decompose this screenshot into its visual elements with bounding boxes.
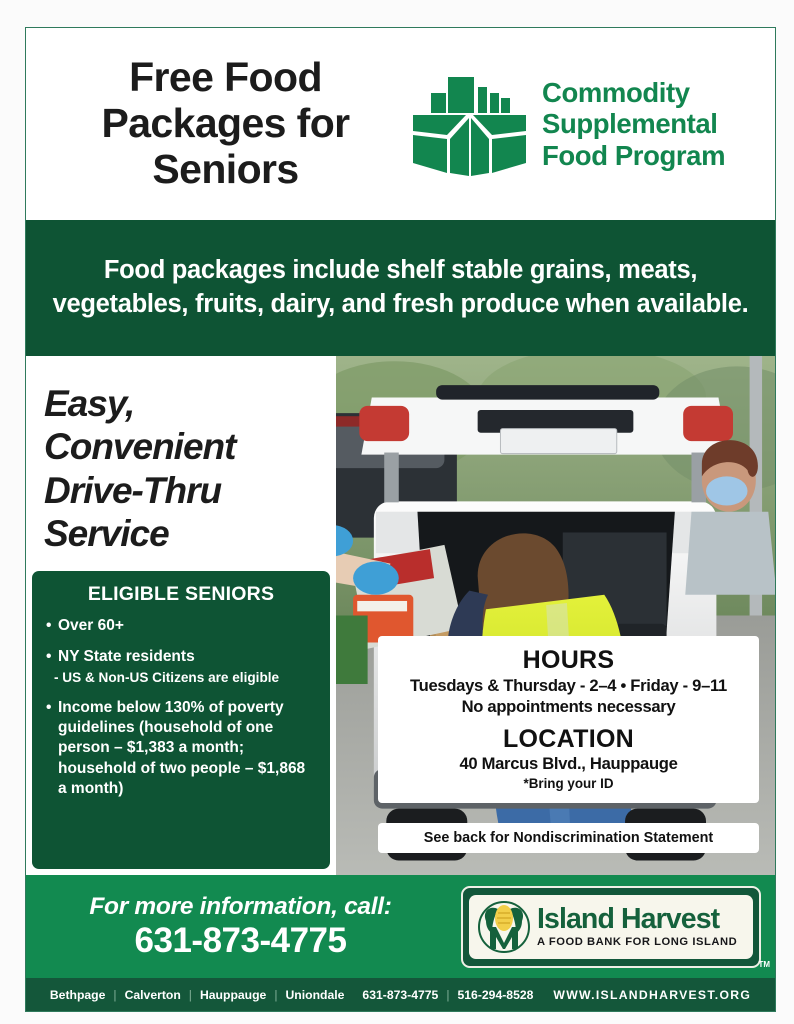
drive-thru-tagline: Easy, Convenient Drive-Thru Service: [32, 356, 330, 563]
csfp-program-name: Commodity Supplemental Food Program: [542, 77, 725, 171]
bring-id-note: *Bring your ID: [388, 776, 749, 791]
eligibility-text: Over 60+: [58, 616, 124, 636]
location-heading: LOCATION: [388, 725, 749, 754]
csfp-line-3: Food Program: [542, 140, 725, 171]
description-text: Food packages include shelf stable grain…: [48, 254, 753, 321]
footer-location-hauppauge: Hauppauge: [200, 988, 266, 1002]
list-item: • NY State residents - US & Non-US Citiz…: [46, 647, 316, 687]
csfp-line-1: Commodity: [542, 77, 725, 108]
eligibility-subtext: - US & Non-US Citizens are eligible: [46, 669, 316, 687]
footer-location-calverton: Calverton: [125, 988, 181, 1002]
csfp-logo: Commodity Supplemental Food Program: [403, 69, 765, 179]
eligible-seniors-box: ELIGIBLE SENIORS • Over 60+ • NY State r…: [32, 571, 330, 869]
footer-separator: |: [113, 988, 116, 1002]
flyer-frame: Free Food Packages for Seniors: [25, 27, 776, 1012]
hours-heading: HOURS: [388, 646, 749, 675]
footer-separator: |: [446, 988, 449, 1002]
trademark-mark: TM: [758, 960, 770, 969]
footer-phone-1[interactable]: 631-873-4775: [362, 988, 438, 1002]
address-text: 40 Marcus Blvd., Hauppauge: [388, 753, 749, 775]
header-section: Free Food Packages for Seniors: [26, 28, 775, 220]
bullet-icon: •: [46, 616, 58, 636]
eligibility-text: NY State residents: [58, 647, 195, 667]
page-title: Free Food Packages for Seniors: [48, 55, 403, 193]
phone-number[interactable]: 631-873-4775: [32, 921, 449, 960]
drive-thru-photo: HOURS Tuesdays & Thursday - 2–4 • Friday…: [336, 356, 775, 875]
footer-separator: |: [189, 988, 192, 1002]
flyer-page: Free Food Packages for Seniors: [0, 0, 794, 1024]
footer-phone-2[interactable]: 516-294-8528: [458, 988, 534, 1002]
hours-line: Tuesdays & Thursday - 2–4 • Friday - 9–1…: [388, 675, 749, 697]
bullet-icon: •: [46, 647, 58, 667]
footer-bar: Bethpage | Calverton | Hauppauge | Union…: [26, 978, 775, 1011]
call-block: For more information, call: 631-873-4775: [32, 893, 453, 960]
left-column: Easy, Convenient Drive-Thru Service ELIG…: [26, 356, 336, 875]
description-banner: Food packages include shelf stable grain…: [26, 220, 775, 356]
eligibility-text: Income below 130% of poverty guidelines …: [58, 698, 316, 799]
footer-location-bethpage: Bethpage: [50, 988, 106, 1002]
csfp-line-2: Supplemental: [542, 108, 725, 139]
island-harvest-logo: Island Harvest A FOOD BANK FOR LONG ISLA…: [461, 886, 761, 968]
footer-website[interactable]: WWW.ISLANDHARVEST.ORG: [553, 988, 751, 1002]
no-appointments-text: No appointments necessary: [388, 696, 749, 718]
list-item: • Over 60+: [46, 616, 316, 636]
hours-location-card: HOURS Tuesdays & Thursday - 2–4 • Friday…: [378, 636, 759, 803]
csfp-box-icon: [409, 69, 531, 179]
bullet-icon: •: [46, 698, 58, 799]
island-harvest-name: Island Harvest: [537, 905, 737, 934]
contact-section: For more information, call: 631-873-4775: [26, 875, 775, 978]
list-item: • Income below 130% of poverty guideline…: [46, 698, 316, 799]
footer-location-uniondale: Uniondale: [286, 988, 345, 1002]
call-label: For more information, call:: [32, 893, 449, 921]
footer-separator: |: [274, 988, 277, 1002]
corn-husk-icon: [476, 899, 532, 955]
main-content: Easy, Convenient Drive-Thru Service ELIG…: [26, 356, 775, 875]
nondiscrimination-note: See back for Nondiscrimination Statement: [378, 823, 759, 853]
eligible-title: ELIGIBLE SENIORS: [46, 583, 316, 606]
island-harvest-tagline: A FOOD BANK FOR LONG ISLAND: [537, 937, 737, 948]
